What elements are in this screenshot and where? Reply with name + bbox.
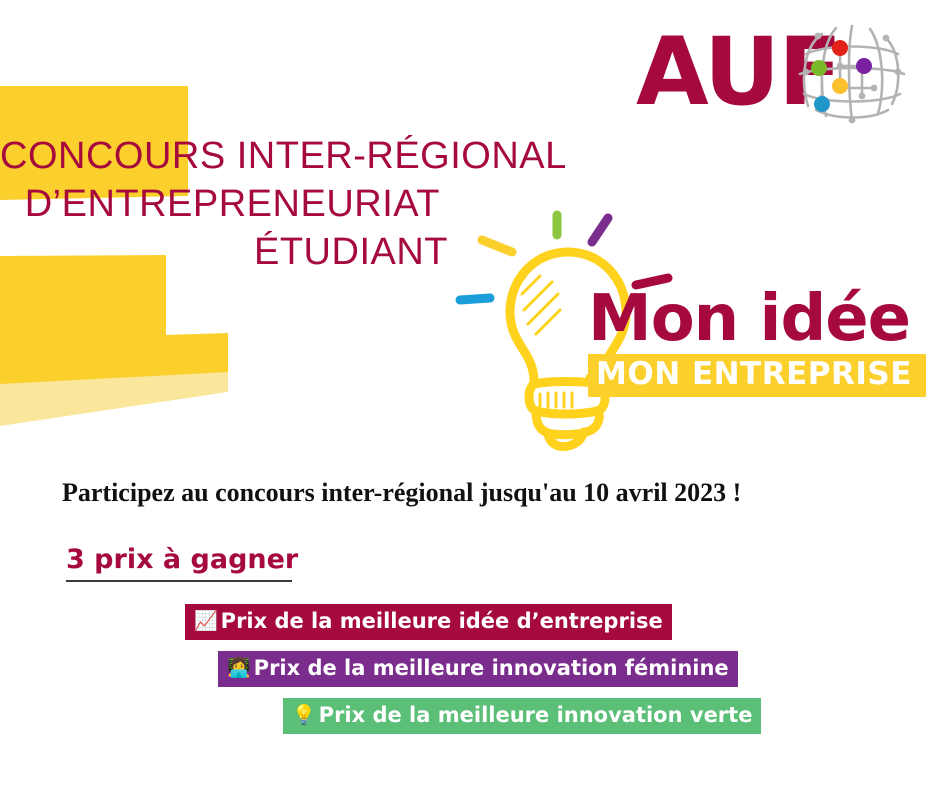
lockup-subtitle-band: MON ENTREPRISE [588, 354, 926, 397]
node-blue [814, 96, 830, 112]
ray-yellow [482, 240, 512, 252]
prize-badge-label: Prix de la meilleure innovation féminine [254, 658, 729, 679]
prize-badge-label: Prix de la meilleure idée d’entreprise [221, 611, 663, 632]
auf-logo: AUF [636, 18, 936, 123]
prizes-heading: 3 prix à gagner [66, 545, 298, 582]
brand-lockup: Mon idée MON ENTREPRISE [440, 190, 940, 460]
headline-line-1: CONCOURS INTER-RÉGIONAL [0, 132, 600, 180]
prize-badge-label: Prix de la meilleure innovation verte [319, 705, 753, 726]
woman-technologist-icon: 👩‍💻 [227, 659, 251, 678]
ray-purple [592, 218, 608, 242]
lockup-text: Mon idée MON ENTREPRISE [588, 286, 926, 397]
yellow-shape-pale-band [0, 350, 228, 426]
lockup-title: Mon idée [588, 286, 926, 352]
poster-canvas: AUF [0, 0, 940, 788]
prize-badge-best-business-idea: 📈 Prix de la meilleure idée d’entreprise [185, 604, 672, 640]
prize-badge-best-green-innovation: 💡 Prix de la meilleure innovation verte [283, 698, 761, 734]
ray-blue [460, 298, 490, 300]
lockup-subtitle: MON ENTREPRISE [596, 359, 918, 390]
node-green [811, 60, 827, 76]
prizes-heading-underline [66, 580, 292, 582]
prizes-heading-text: 3 prix à gagner [66, 545, 298, 575]
auf-network-globe-icon [792, 20, 912, 128]
chart-increasing-icon: 📈 [194, 612, 218, 631]
prize-badge-best-female-innovation: 👩‍💻 Prix de la meilleure innovation fémi… [218, 651, 738, 687]
node-purple [856, 58, 872, 74]
deadline-text: Participez au concours inter-régional ju… [62, 478, 741, 508]
green-lightbulb-icon: 💡 [292, 706, 316, 725]
node-red [832, 40, 848, 56]
node-yellow [832, 78, 848, 94]
yellow-shape-mid-join [0, 333, 228, 384]
